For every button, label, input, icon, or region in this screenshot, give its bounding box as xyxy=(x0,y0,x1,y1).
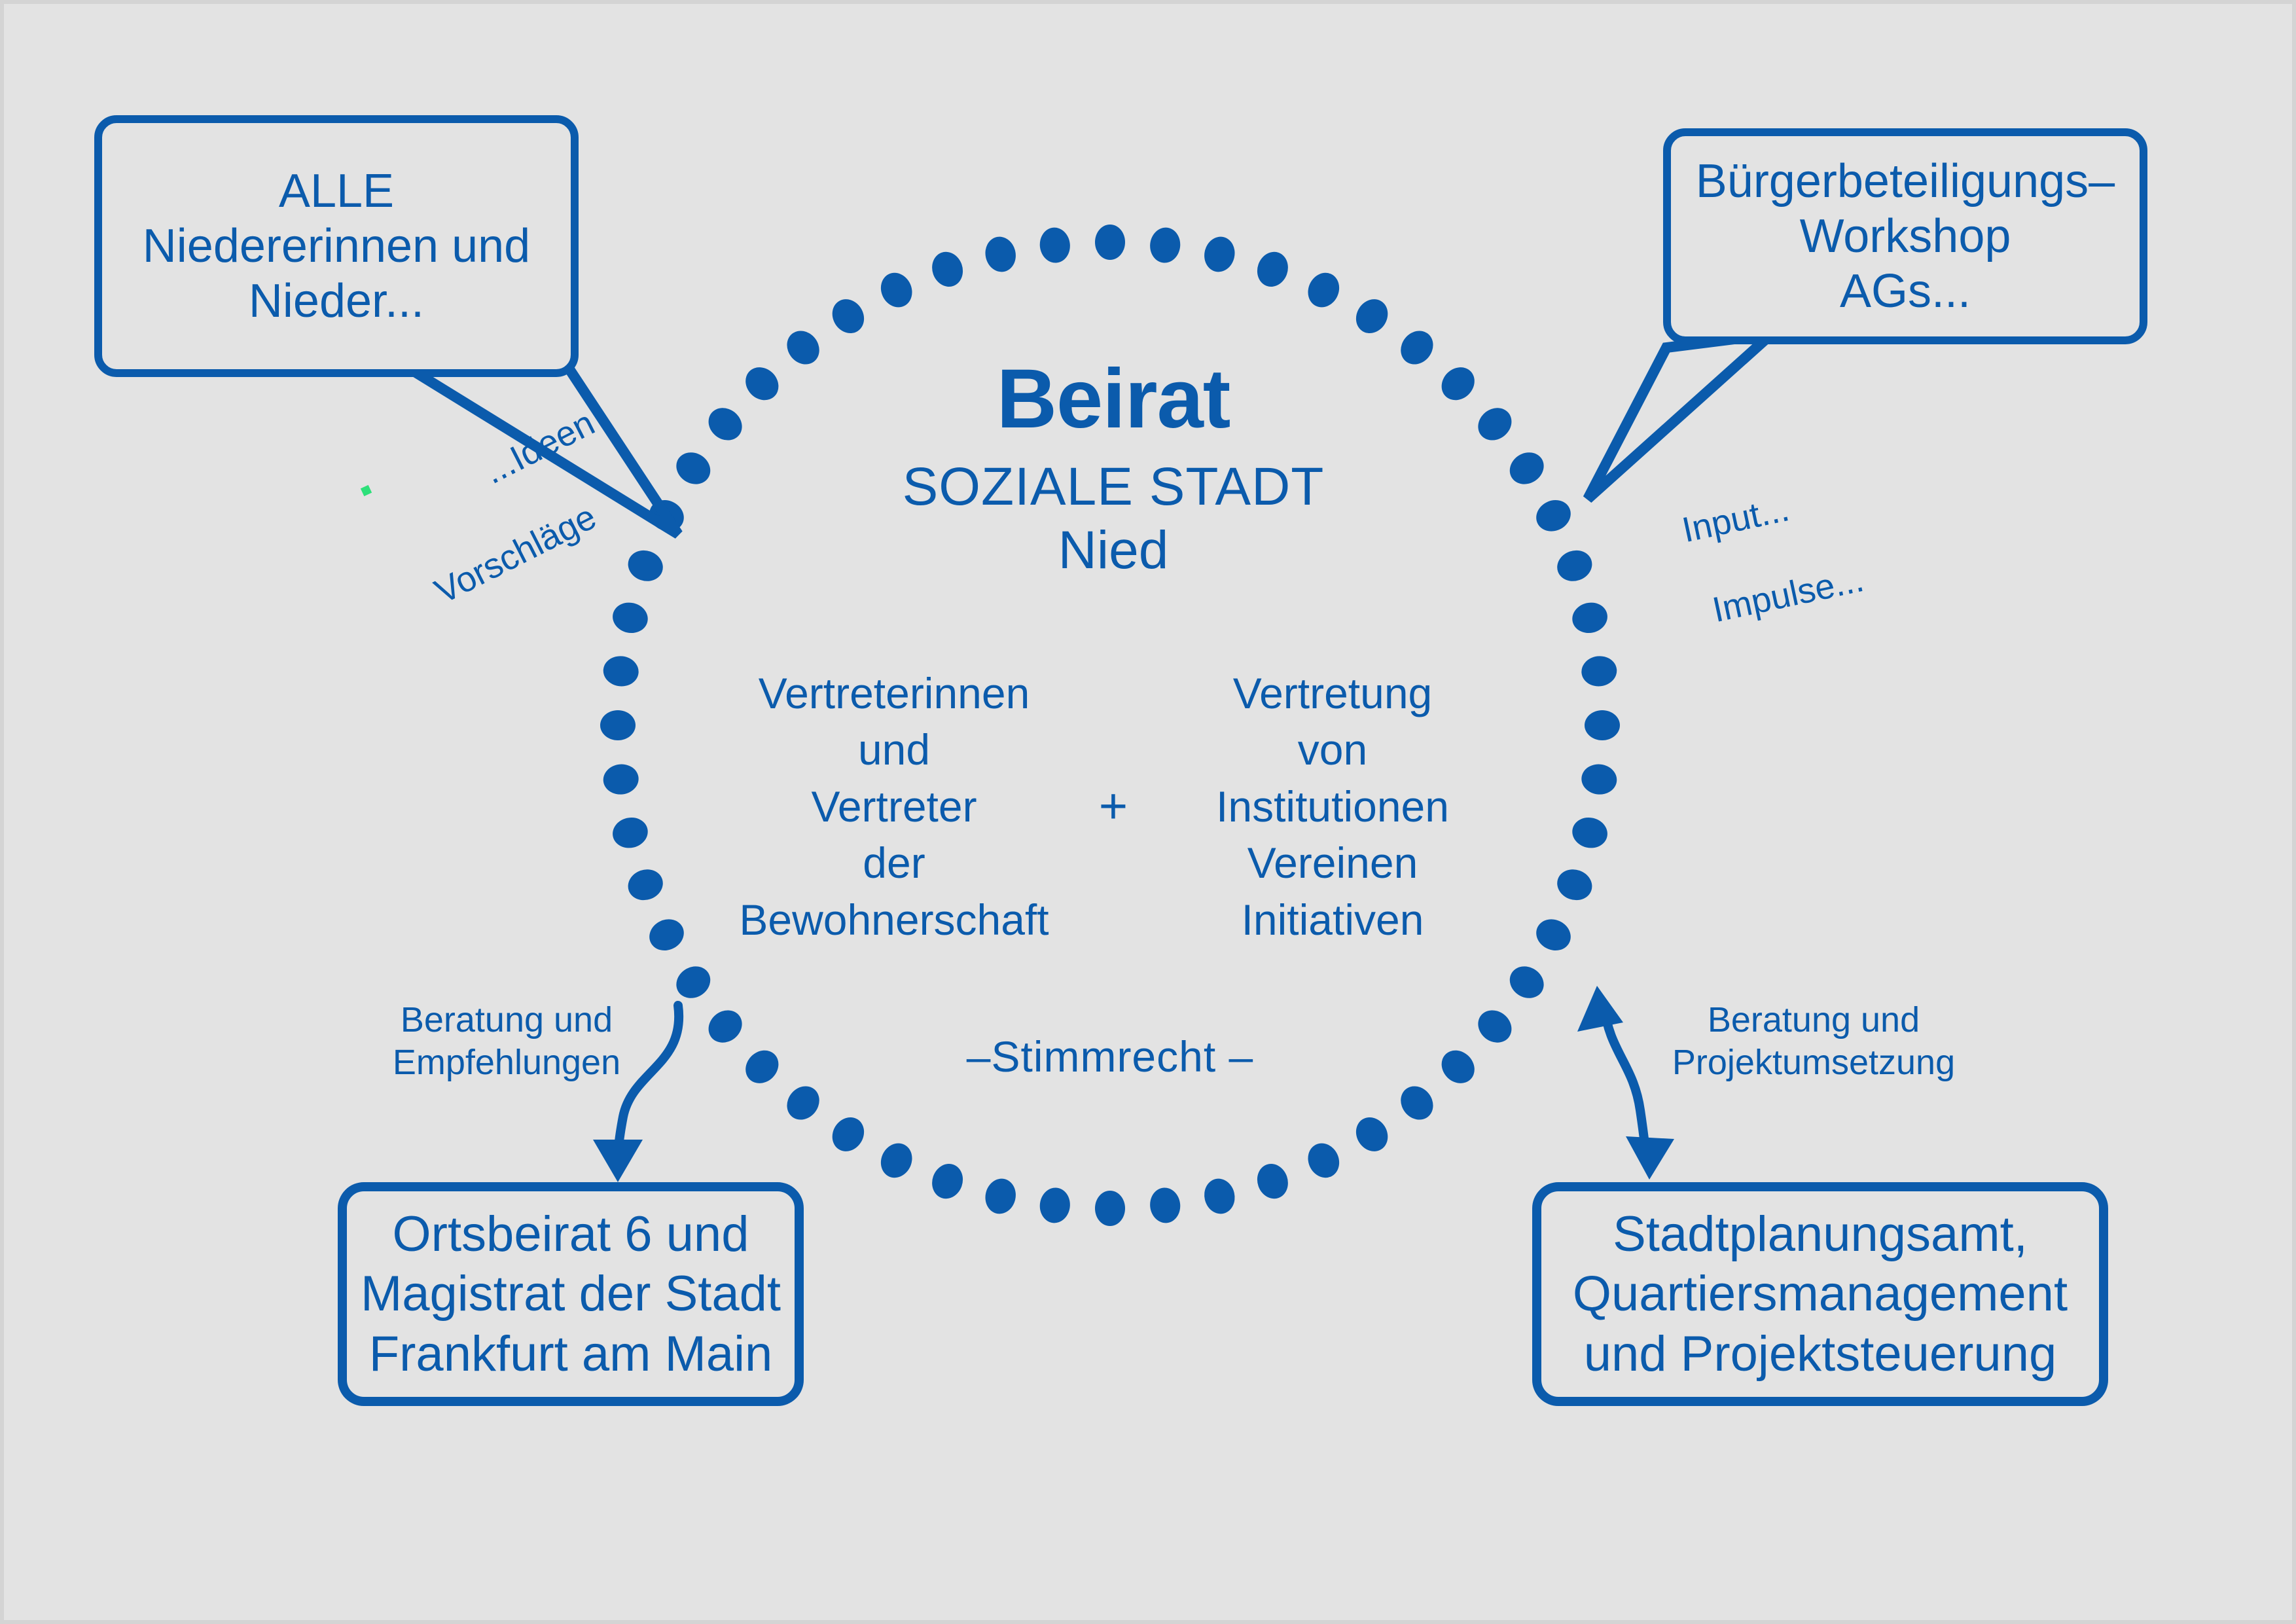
ring-dot xyxy=(1201,234,1238,275)
ring-dot xyxy=(670,960,716,1005)
ring-dot xyxy=(1471,1003,1518,1049)
membership-composition: Vertreterinnen und Vertreter der Bewohne… xyxy=(678,665,1549,948)
diagram-canvas: ALLE Niedererinnen und Nieder... Bürgerb… xyxy=(0,0,2296,1624)
ring-dot xyxy=(702,1003,749,1049)
ring-dot xyxy=(1302,268,1345,313)
ring-dot xyxy=(601,655,640,689)
ring-dot xyxy=(1350,293,1394,339)
speech-bubble-residents[interactable]: ALLE Niedererinnen und Nieder... xyxy=(94,115,579,377)
ring-dot xyxy=(982,1176,1019,1217)
ring-center-heading: Beirat SOZIALE STADT Nied xyxy=(730,357,1496,583)
ring-dot xyxy=(1570,814,1611,852)
composition-column-institutions: Vertretung von Institutionen Vereinen In… xyxy=(1156,665,1509,948)
annotation-input-line2: Impulse... xyxy=(1709,536,1974,632)
box-ortsbeirat-magistrat[interactable]: Ortsbeirat 6 und Magistrat der Stadt Fra… xyxy=(338,1182,804,1406)
annotation-input-line1: Input... xyxy=(1678,453,1956,552)
page-title: Beirat xyxy=(730,357,1496,441)
ring-dot xyxy=(1201,1176,1238,1217)
ring-dot xyxy=(1038,226,1072,264)
ring-dot xyxy=(1553,546,1596,586)
ring-dot xyxy=(780,1080,826,1127)
ring-dot xyxy=(739,1043,785,1090)
composition-column-residents: Vertreterinnen und Vertreter der Bewohne… xyxy=(717,665,1071,948)
ring-dot xyxy=(1095,1191,1125,1226)
arrowhead-right-up xyxy=(1577,986,1623,1032)
box-ortsbeirat-magistrat-text: Ortsbeirat 6 und Magistrat der Stadt Fra… xyxy=(347,1204,795,1384)
ring-dot xyxy=(1253,247,1293,291)
ring-dot xyxy=(1148,1186,1182,1225)
ring-dot xyxy=(1570,599,1611,636)
ring-dot xyxy=(1435,1043,1481,1090)
box-stadtplanungsamt[interactable]: Stadtplanungsamt, Quartiersmanagement un… xyxy=(1532,1182,2108,1406)
plus-icon: + xyxy=(1071,782,1156,831)
ring-dot xyxy=(826,293,870,339)
ring-dot xyxy=(1253,1160,1293,1203)
ring-dot xyxy=(1038,1186,1072,1225)
ring-dot xyxy=(1148,226,1182,264)
ring-dot xyxy=(1580,763,1619,797)
voting-rights-note: –Stimmrecht – xyxy=(845,1032,1375,1081)
box-stadtplanungsamt-text: Stadtplanungsamt, Quartiersmanagement un… xyxy=(1541,1204,2099,1384)
page-subtitle-line1: SOZIALE STADT xyxy=(730,456,1496,519)
speech-bubble-residents-text: ALLE Niedererinnen und Nieder... xyxy=(102,164,571,329)
ring-dot xyxy=(826,1111,870,1157)
arrowhead-left-down xyxy=(593,1140,643,1182)
ring-dot xyxy=(601,763,640,797)
ring-dot xyxy=(1095,225,1125,260)
ring-dot xyxy=(927,247,967,291)
ring-dot xyxy=(609,599,651,636)
ring-dot xyxy=(624,865,667,905)
ring-dot xyxy=(1504,446,1550,491)
ring-dot xyxy=(1585,710,1620,740)
ring-dot xyxy=(1394,1080,1440,1127)
ring-dot xyxy=(1504,960,1550,1005)
ring-dot xyxy=(609,814,651,852)
ring-dot xyxy=(927,1160,967,1203)
ring-dot xyxy=(1580,655,1619,689)
ring-dot xyxy=(875,268,918,313)
speech-bubble-participation[interactable]: Bürgerbeteiligungs– Workshop AGs... xyxy=(1663,128,2147,344)
ring-dot xyxy=(875,1138,918,1183)
ring-dot xyxy=(1531,494,1576,537)
annotation-beratung-projektumsetzung: Beratung und Projektumsetzung xyxy=(1643,999,1984,1084)
annotation-beratung-empfehlungen: Beratung und Empfehlungen xyxy=(376,999,637,1084)
ring-dot xyxy=(1302,1138,1345,1183)
arrowhead-right-down xyxy=(1626,1136,1674,1180)
ring-dot xyxy=(1350,1111,1394,1157)
arrow-right-up xyxy=(1604,1005,1647,1160)
speech-bubble-participation-text: Bürgerbeteiligungs– Workshop AGs... xyxy=(1671,154,2140,319)
page-subtitle-line2: Nied xyxy=(730,519,1496,583)
ring-dot xyxy=(600,710,636,740)
ring-dot xyxy=(1553,865,1596,905)
ring-dot xyxy=(982,234,1019,275)
